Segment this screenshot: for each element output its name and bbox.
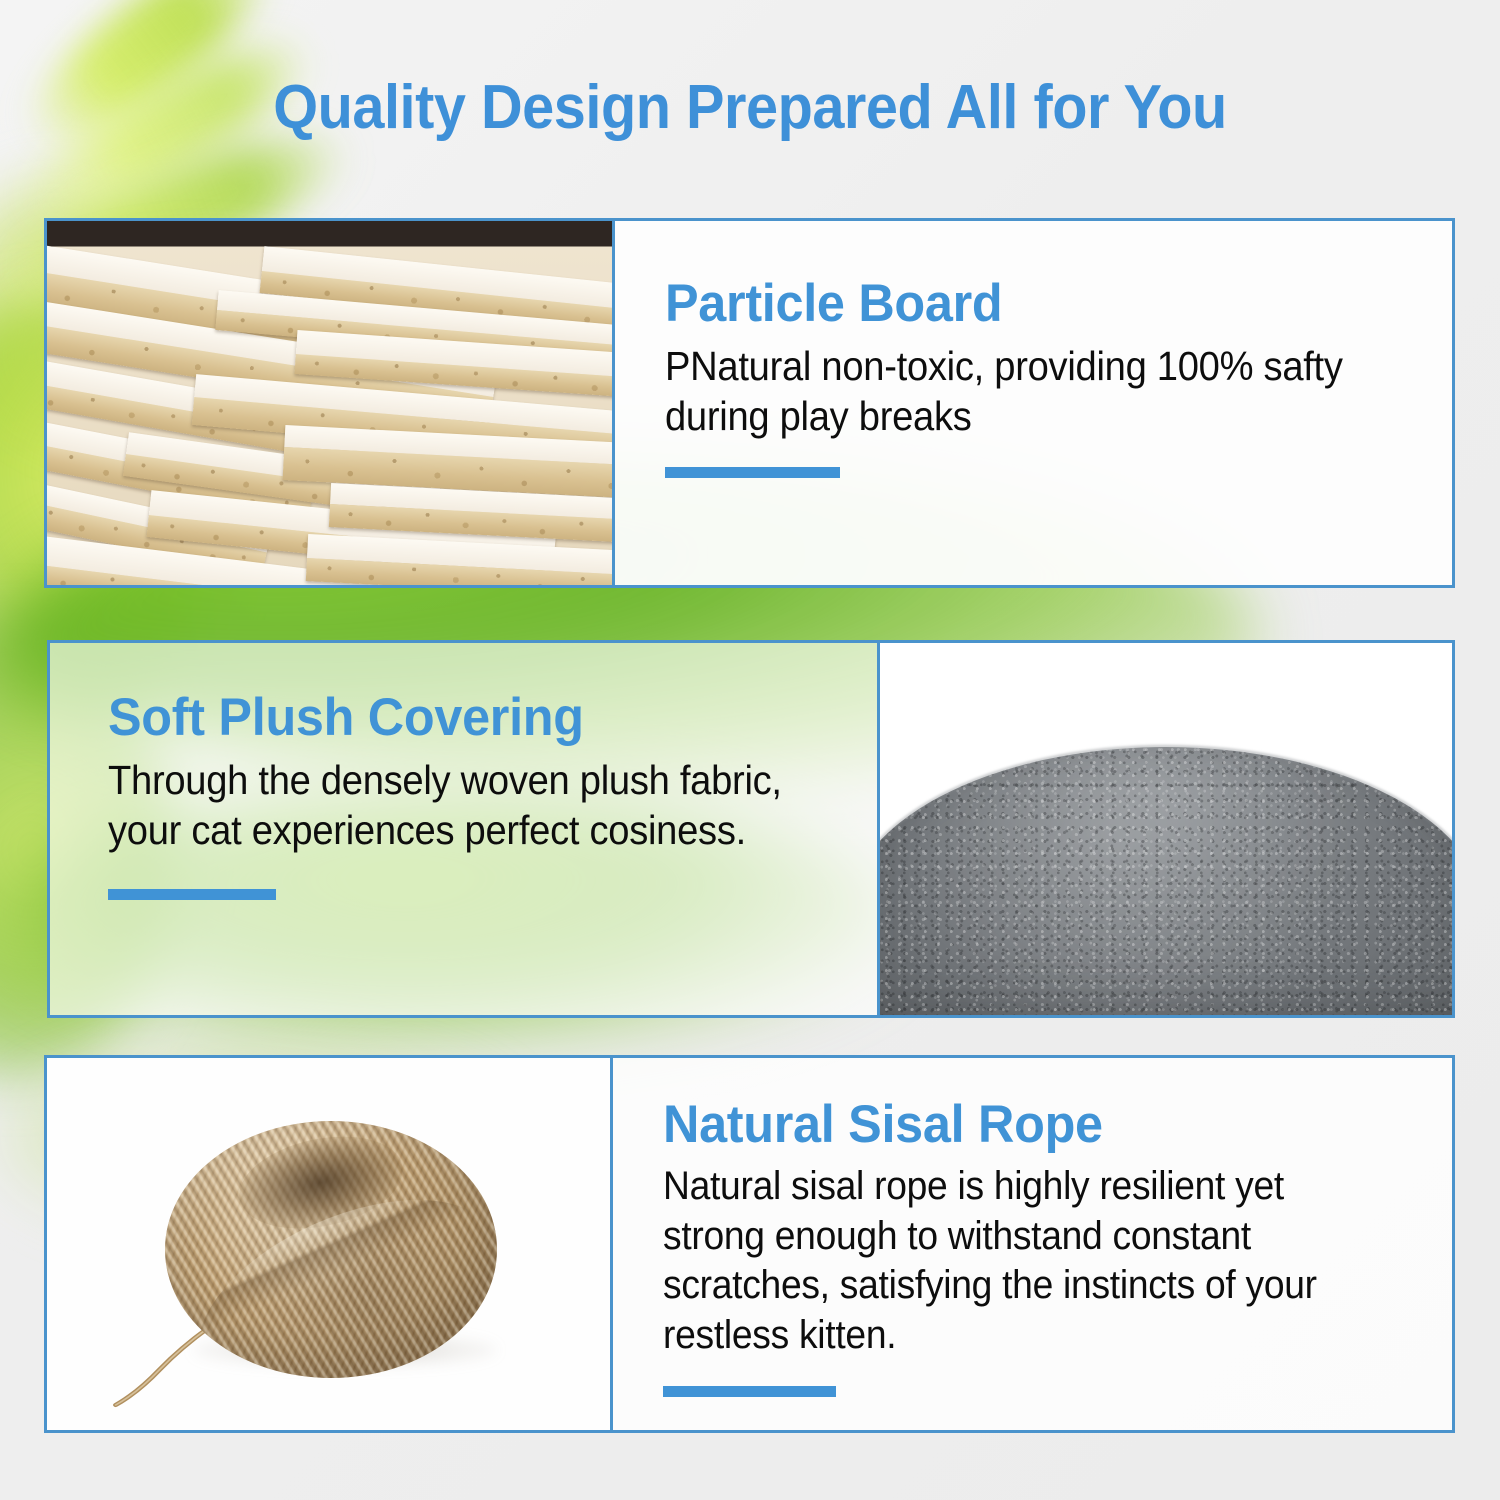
particle-board-text-pane: Particle Board PNatural non-toxic, provi…	[615, 221, 1452, 585]
sisal-rope-text-pane: Natural Sisal Rope Natural sisal rope is…	[613, 1058, 1452, 1430]
feature-card-natural-sisal-rope: Natural Sisal Rope Natural sisal rope is…	[44, 1055, 1455, 1433]
sisal-rope-accent-bar	[663, 1386, 836, 1397]
plush-fuzzy-edge	[880, 745, 1452, 1015]
particle-board-heading: Particle Board	[665, 277, 1375, 331]
soft-plush-text-pane: Soft Plush Covering Through the densely …	[50, 643, 880, 1015]
particle-board-accent-bar	[665, 467, 840, 478]
particle-board-image	[47, 221, 615, 585]
sisal-rope-heading: Natural Sisal Rope	[663, 1098, 1375, 1152]
stack-of-particle-board-panels-photo	[47, 221, 612, 585]
particle-board-body: PNatural non-toxic, providing 100% safty…	[665, 341, 1360, 441]
page-title: Quality Design Prepared All for You	[53, 72, 1448, 143]
soft-plush-body: Through the densely woven plush fabric, …	[108, 755, 786, 855]
ball-of-natural-sisal-twine-photo	[47, 1058, 610, 1430]
feature-card-particle-board: Particle Board PNatural non-toxic, provi…	[44, 218, 1455, 588]
sisal-rope-body: Natural sisal rope is highly resilient y…	[663, 1162, 1360, 1360]
sisal-rope-image	[47, 1058, 613, 1430]
rope-ball	[165, 1121, 497, 1378]
infographic-page: Quality Design Prepared All for You	[0, 0, 1500, 1500]
soft-plush-accent-bar	[108, 889, 276, 900]
soft-plush-image	[880, 643, 1452, 1015]
gray-plush-fabric-dome-photo	[880, 643, 1452, 1015]
soft-plush-heading: Soft Plush Covering	[108, 691, 801, 745]
plush-dome-shape	[880, 747, 1452, 1015]
feature-card-soft-plush-covering: Soft Plush Covering Through the densely …	[47, 640, 1455, 1018]
